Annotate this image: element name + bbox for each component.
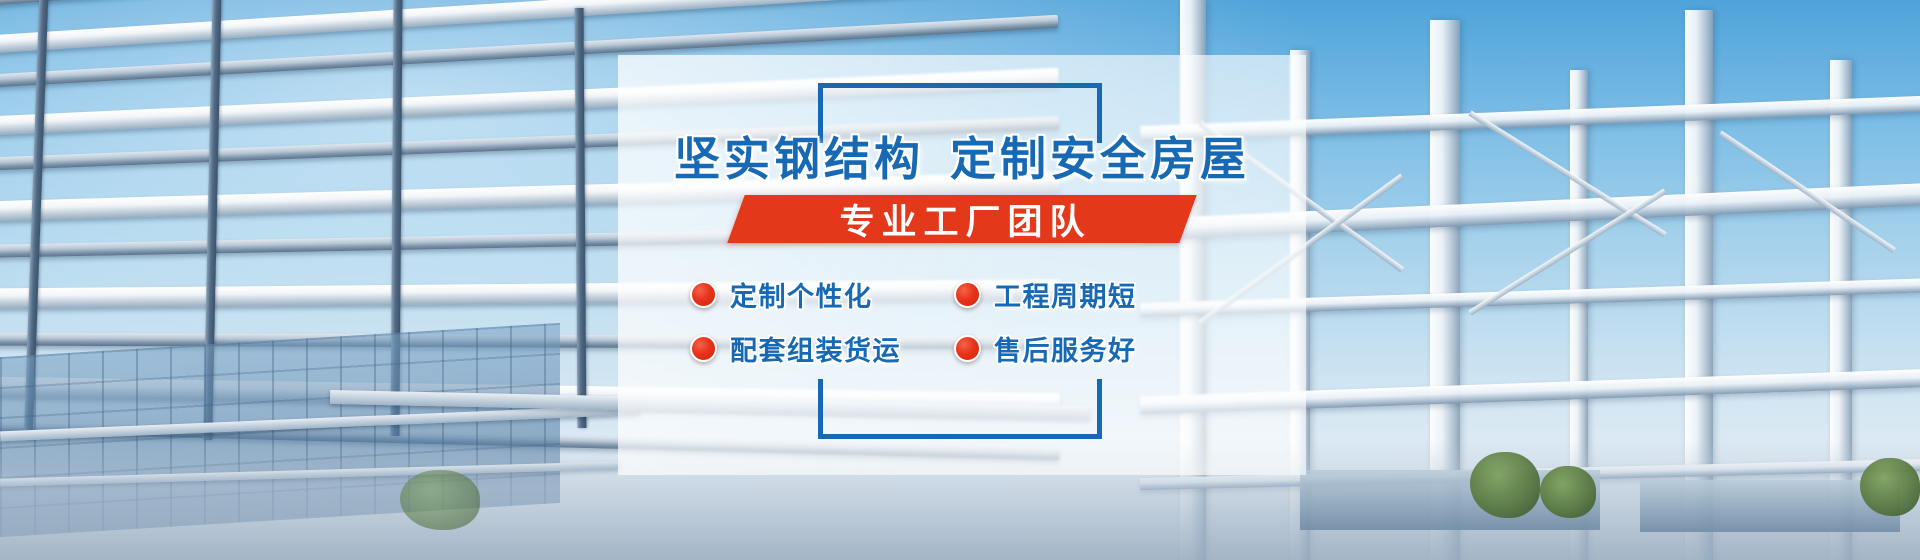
red-dot-icon <box>954 281 981 308</box>
red-dot-icon <box>954 335 981 362</box>
feature-item-1: 定制个性化 <box>690 267 926 321</box>
feature-item-4: 售后服务好 <box>954 321 1190 375</box>
feature-label-1: 定制个性化 <box>730 275 873 314</box>
feature-list: 定制个性化 工程周期短 配套组装货运 售后服务好 <box>690 267 1250 375</box>
headline: 坚实钢结构定制安全房屋 <box>618 123 1306 189</box>
feature-label-3: 配套组装货运 <box>730 329 901 368</box>
red-dot-icon <box>690 335 717 362</box>
content-panel: 坚实钢结构定制安全房屋 专业工厂团队 定制个性化 工程周期短 配套组装货运 <box>618 55 1306 475</box>
feature-item-3: 配套组装货运 <box>690 321 926 375</box>
red-dot-icon <box>690 281 717 308</box>
headline-part-1: 坚实钢结构 <box>674 133 924 185</box>
panel-content: 坚实钢结构定制安全房屋 专业工厂团队 定制个性化 工程周期短 配套组装货运 <box>618 55 1306 475</box>
feature-label-2: 工程周期短 <box>994 275 1137 314</box>
ribbon-banner: 专业工厂团队 <box>727 195 1196 243</box>
feature-item-2: 工程周期短 <box>954 267 1190 321</box>
feature-label-4: 售后服务好 <box>994 329 1137 368</box>
ribbon-label: 专业工厂团队 <box>736 195 1188 243</box>
hero-banner: 坚实钢结构定制安全房屋 专业工厂团队 定制个性化 工程周期短 配套组装货运 <box>0 0 1920 560</box>
headline-part-2: 定制安全房屋 <box>950 133 1250 185</box>
